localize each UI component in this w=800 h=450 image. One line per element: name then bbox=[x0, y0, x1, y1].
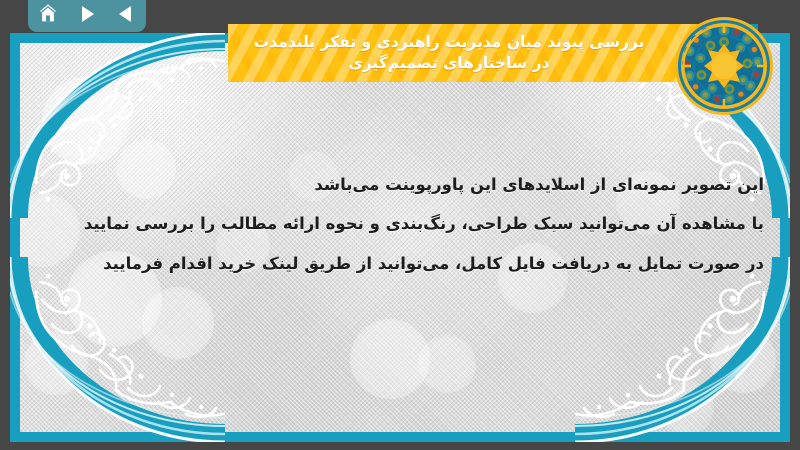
next-slide-button[interactable] bbox=[73, 1, 101, 27]
title-band-plate: بررسی پیوند میان مدیریت راهبردی و تفکر ب… bbox=[228, 24, 710, 82]
bokeh-circle bbox=[142, 287, 214, 359]
bokeh-circle bbox=[42, 77, 130, 165]
body-line-2: با مشاهده آن می‌توانید سبک طراحی، رنگ‌بن… bbox=[36, 204, 764, 243]
arrow-left-icon bbox=[116, 4, 136, 24]
home-icon bbox=[37, 3, 59, 25]
body-line-3: در صورت تمایل به دریافت فایل کامل، می‌تو… bbox=[36, 244, 764, 283]
navigation-toolbar bbox=[28, 0, 146, 32]
slide-viewer: این تصویر نمونه‌ای از اسلایدهای این پاور… bbox=[0, 0, 800, 450]
slide-body-text: این تصویر نمونه‌ای از اسلایدهای این پاور… bbox=[36, 165, 764, 283]
bokeh-circle bbox=[24, 331, 88, 395]
title-band-cap bbox=[710, 24, 758, 82]
slide-title: بررسی پیوند میان مدیریت راهبردی و تفکر ب… bbox=[228, 32, 710, 75]
home-button[interactable] bbox=[34, 1, 62, 27]
bokeh-circle bbox=[350, 319, 430, 399]
slide-title-band: بررسی پیوند میان مدیریت راهبردی و تفکر ب… bbox=[228, 24, 758, 82]
bokeh-circle bbox=[418, 335, 476, 393]
bokeh-circle bbox=[710, 327, 776, 393]
slide-canvas: این تصویر نمونه‌ای از اسلایدهای این پاور… bbox=[10, 33, 790, 442]
body-line-1: این تصویر نمونه‌ای از اسلایدهای این پاور… bbox=[36, 165, 764, 204]
bokeh-circle bbox=[660, 381, 714, 432]
arrow-right-icon bbox=[77, 4, 97, 24]
previous-slide-button[interactable] bbox=[112, 1, 140, 27]
